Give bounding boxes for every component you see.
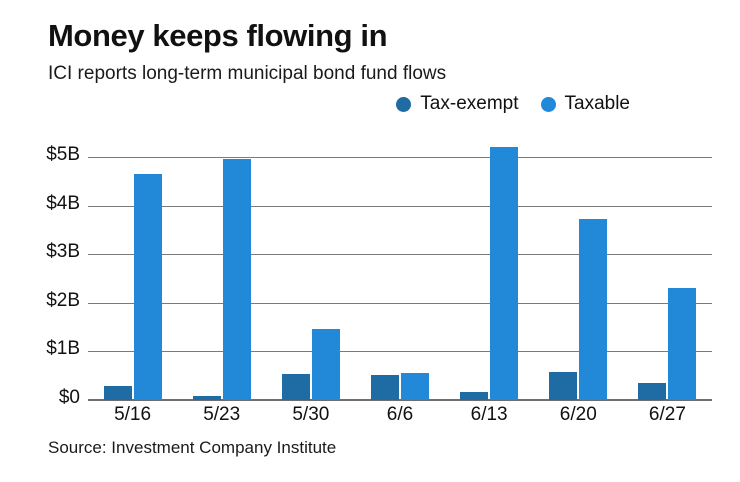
x-axis-tick-label: 5/30: [266, 404, 356, 426]
y-axis-tick-label: $5B: [8, 144, 80, 166]
bar-tax-exempt-5-16[interactable]: [104, 386, 132, 400]
x-axis-tick-label: 6/13: [444, 404, 534, 426]
bar-tax-exempt-6-20[interactable]: [549, 372, 577, 400]
bar-taxable-6-13[interactable]: [490, 147, 518, 400]
x-axis-tick-label: 6/6: [355, 404, 445, 426]
y-axis-tick-labels: $0$1B$2B$3B$4B$5B: [0, 140, 80, 400]
y-axis-tick-label: $1B: [8, 338, 80, 360]
bar-group-container: [88, 140, 712, 400]
plot-area: [88, 140, 712, 400]
bar-tax-exempt-5-23[interactable]: [193, 396, 221, 400]
x-axis-tick-label: 6/27: [622, 404, 712, 426]
bar-tax-exempt-6-27[interactable]: [638, 383, 666, 400]
source-note: Source: Investment Company Institute: [48, 438, 336, 458]
bar-taxable-5-23[interactable]: [223, 159, 251, 400]
bar-tax-exempt-6-13[interactable]: [460, 392, 488, 400]
bar-taxable-5-16[interactable]: [134, 174, 162, 400]
bar-taxable-6-27[interactable]: [668, 288, 696, 400]
bar-tax-exempt-6-6[interactable]: [371, 375, 399, 400]
bar-tax-exempt-5-30[interactable]: [282, 374, 310, 400]
bar-taxable-5-30[interactable]: [312, 329, 340, 400]
y-axis-tick-label: $4B: [8, 193, 80, 215]
chart-figure: Money keeps flowing in ICI reports long-…: [0, 0, 740, 482]
x-axis-tick-label: 6/20: [533, 404, 623, 426]
bar-taxable-6-20[interactable]: [579, 219, 607, 400]
y-axis-tick-label: $3B: [8, 241, 80, 263]
plot-wrap: $0$1B$2B$3B$4B$5B 5/165/235/306/66/136/2…: [0, 0, 740, 482]
x-axis-tick-labels: 5/165/235/306/66/136/206/27: [88, 404, 712, 432]
y-axis-tick-label: $2B: [8, 290, 80, 312]
bar-taxable-6-6[interactable]: [401, 373, 429, 400]
y-axis-tick-label: $0: [8, 387, 80, 409]
x-axis-tick-label: 5/16: [88, 404, 178, 426]
x-axis-tick-label: 5/23: [177, 404, 267, 426]
